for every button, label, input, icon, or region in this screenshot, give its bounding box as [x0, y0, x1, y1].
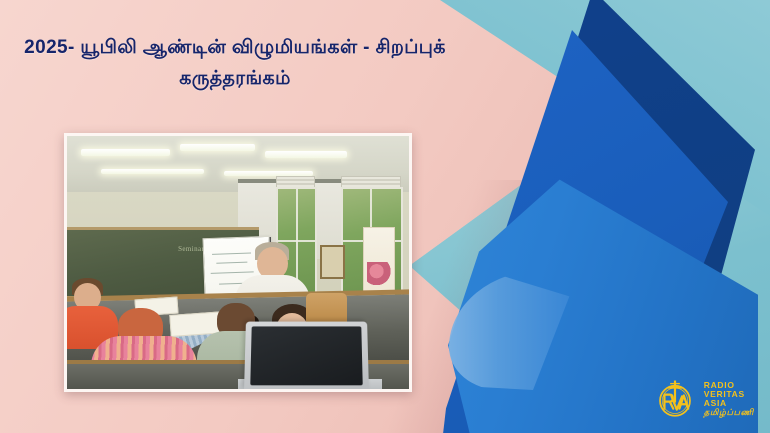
photo-wall-poster	[363, 227, 396, 295]
poster-canvas: 2025- யூபிலி ஆண்டின் விழுமியங்கள் - சிறப…	[0, 0, 770, 433]
photo-ceiling-light	[81, 149, 170, 156]
logo-tamil-service-name: தமிழ்ப்பணி	[704, 408, 754, 417]
rva-logo: RADIO VERITAS ASIA தமிழ்ப்பணி	[653, 377, 754, 421]
chalkboard-text: Seminar	[178, 245, 204, 253]
rva-monogram-icon	[653, 377, 697, 421]
photo-ceiling-light	[101, 169, 204, 174]
seminar-photo-frame: Seminar	[64, 133, 412, 392]
photo-ceiling-light	[265, 151, 347, 158]
title-line-1: 2025- யூபிலி ஆண்டின் விழுமியங்கள் - சிறப…	[0, 32, 470, 63]
seminar-photo: Seminar	[67, 136, 409, 389]
photo-ceiling-light	[180, 144, 255, 151]
rva-logo-text: RADIO VERITAS ASIA தமிழ்ப்பணி	[704, 381, 754, 417]
title-line-2: கருத்தரங்கம்	[0, 63, 470, 94]
logo-line-asia: ASIA	[704, 399, 754, 408]
photo-laptop-screen	[250, 326, 362, 385]
poster-title: 2025- யூபிலி ஆண்டின் விழுமியங்கள் - சிறப…	[0, 32, 470, 94]
photo-laptop	[244, 321, 369, 389]
photo-framed-picture	[320, 245, 345, 279]
